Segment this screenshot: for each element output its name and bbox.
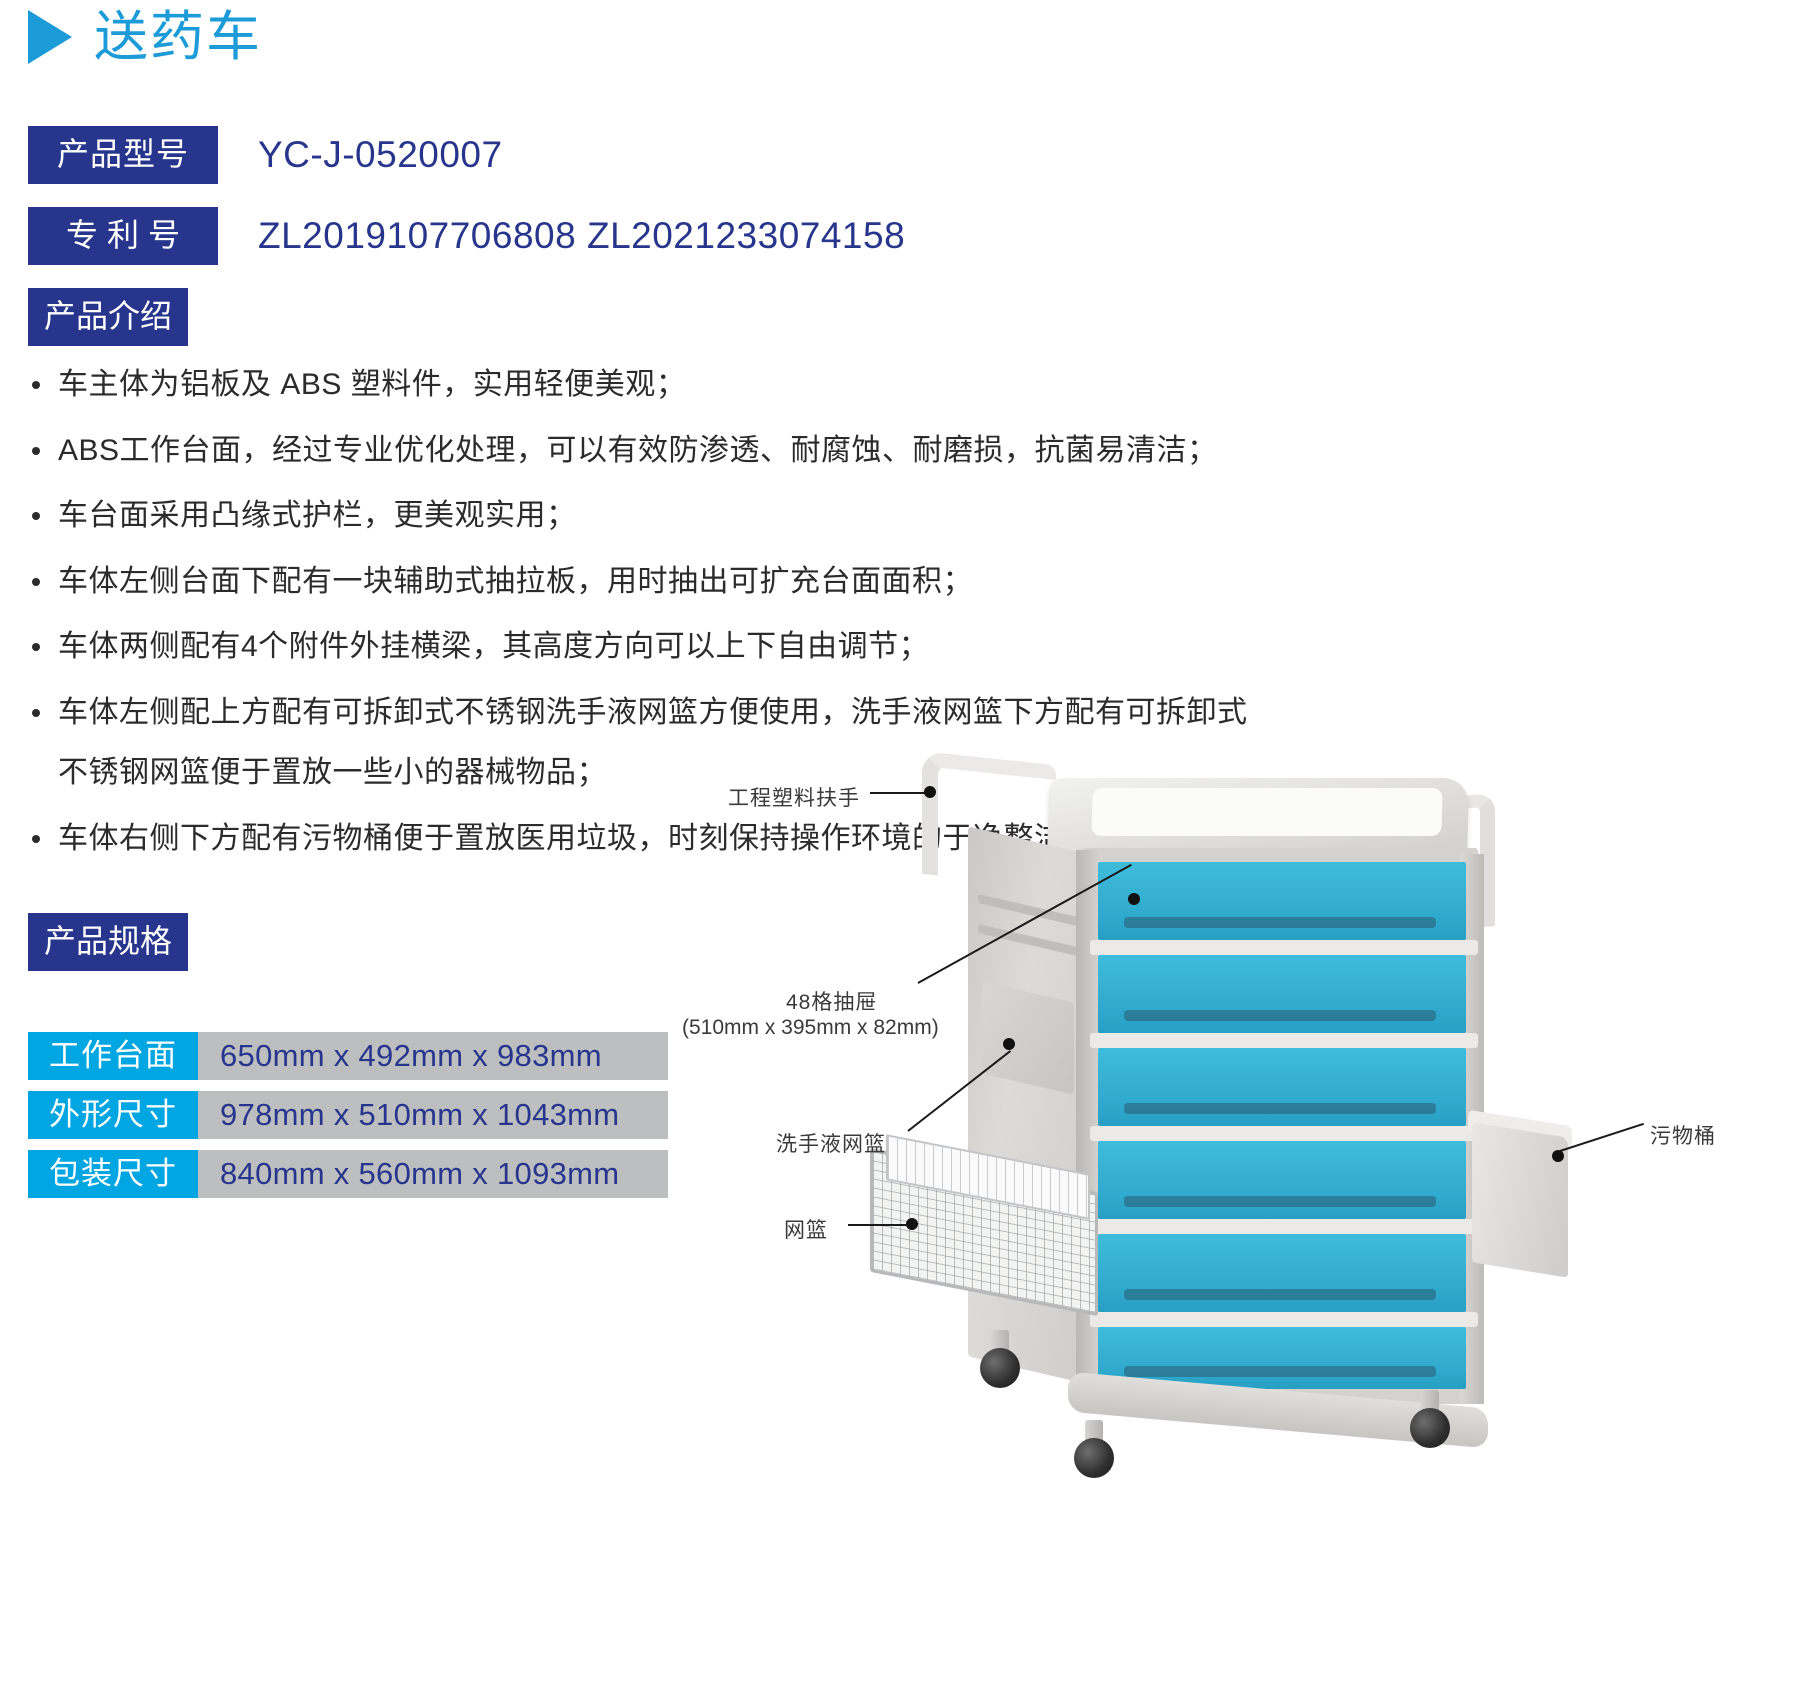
- callout-dot-icon: [1003, 1038, 1015, 1050]
- spec-key: 工作台面: [28, 1032, 198, 1080]
- cart-drawer-divider: [1090, 940, 1478, 955]
- section-header-specs: 产品规格: [28, 913, 188, 971]
- callout-leader-line: [870, 792, 928, 794]
- spec-value: 840mm x 560mm x 1093mm: [198, 1150, 619, 1198]
- cart-drawer-divider: [1090, 1126, 1478, 1141]
- callout-dot-icon: [1552, 1150, 1564, 1162]
- list-item: 车体左侧台面下配有一块辅助式抽拉板，用时抽出可扩充台面面积；: [20, 562, 1440, 603]
- callout-label-handle: 工程塑料扶手: [728, 782, 860, 812]
- spec-key: 包装尺寸: [28, 1150, 198, 1198]
- page-title-text: 送药车: [94, 10, 262, 64]
- section-header-intro: 产品介绍: [28, 288, 188, 346]
- cart-drawer: [1098, 862, 1466, 940]
- bullet-dot-icon: [32, 835, 40, 843]
- cart-drawer-divider: [1090, 1033, 1478, 1048]
- cart-caster: [1072, 1420, 1116, 1476]
- patent-number-row: 专利号 ZL2019107706808 ZL2021233074158: [28, 207, 905, 265]
- waste-bin: [1472, 1122, 1568, 1277]
- list-item: 车体两侧配有4个附件外挂横梁，其高度方向可以上下自由调节；: [20, 627, 1440, 668]
- table-row: 外形尺寸 978mm x 510mm x 1043mm: [28, 1091, 668, 1139]
- cart-drawer: [1098, 1234, 1466, 1312]
- product-spec-page: 送药车 产品型号 YC-J-0520007 专利号 ZL201910770680…: [0, 0, 1798, 1700]
- list-item-text: 车体左侧台面下配有一块辅助式抽拉板，用时抽出可扩充台面面积；: [58, 565, 973, 598]
- specifications-table: 工作台面 650mm x 492mm x 983mm 外形尺寸 978mm x …: [28, 1032, 668, 1209]
- product-photo: 工程塑料扶手 48格抽屉 (510mm x 395mm x 82mm) 洗手液网…: [860, 730, 1798, 1700]
- cart-drawer: [1098, 1141, 1466, 1219]
- bullet-dot-icon: [32, 709, 40, 717]
- bullet-dot-icon: [32, 643, 40, 651]
- callout-label-wire-basket: 网篮: [784, 1214, 828, 1244]
- bullet-dot-icon: [32, 447, 40, 455]
- callout-dot-icon: [1128, 893, 1140, 905]
- table-row: 工作台面 650mm x 492mm x 983mm: [28, 1032, 668, 1080]
- caster-wheel: [980, 1348, 1020, 1388]
- list-item-text: 车体左侧配上方配有可拆卸式不锈钢洗手液网篮方便使用，洗手液网篮下方配有可拆卸式: [58, 696, 1248, 729]
- list-item: 车主体为铝板及 ABS 塑料件，实用轻便美观；: [20, 365, 1440, 406]
- cart-drawer: [1098, 955, 1466, 1033]
- cart-drawer: [1098, 1048, 1466, 1126]
- cart-drawer-divider: [1090, 1312, 1478, 1327]
- product-model-row: 产品型号 YC-J-0520007: [28, 126, 503, 184]
- callout-sub-drawer-dimensions: (510mm x 395mm x 82mm): [682, 1016, 939, 1040]
- list-item-text: 车台面采用凸缘式护栏，更美观实用；: [58, 499, 577, 532]
- callout-dot-icon: [924, 786, 936, 798]
- bullet-dot-icon: [32, 578, 40, 586]
- callout-leader-line: [848, 1224, 910, 1226]
- spec-key: 外形尺寸: [28, 1091, 198, 1139]
- cart-worktop-surface: [1091, 788, 1442, 836]
- play-triangle-icon: [28, 10, 72, 64]
- cart-caster: [978, 1330, 1022, 1386]
- cart-caster: [1408, 1390, 1452, 1446]
- callout-label-drawer: 48格抽屉: [786, 986, 877, 1016]
- callout-label-waste-bin: 污物桶: [1650, 1120, 1716, 1150]
- spec-value: 650mm x 492mm x 983mm: [198, 1032, 602, 1080]
- bullet-dot-icon: [32, 512, 40, 520]
- callout-leader-line: [1560, 1123, 1644, 1152]
- patent-number-label: 专利号: [28, 207, 218, 265]
- list-item-text: 车主体为铝板及 ABS 塑料件，实用轻便美观；: [58, 368, 686, 401]
- callout-dot-icon: [906, 1218, 918, 1230]
- caster-wheel: [1410, 1408, 1450, 1448]
- page-title: 送药车: [28, 10, 262, 64]
- patent-number-value: ZL2019107706808 ZL2021233074158: [258, 215, 905, 257]
- spec-value: 978mm x 510mm x 1043mm: [198, 1091, 619, 1139]
- table-row: 包装尺寸 840mm x 560mm x 1093mm: [28, 1150, 668, 1198]
- product-model-label: 产品型号: [28, 126, 218, 184]
- cart-drawer-divider: [1090, 1219, 1478, 1234]
- callout-label-sanitizer-basket: 洗手液网篮: [776, 1128, 886, 1158]
- caster-wheel: [1074, 1438, 1114, 1478]
- list-item: 车台面采用凸缘式护栏，更美观实用；: [20, 496, 1440, 537]
- product-model-value: YC-J-0520007: [258, 134, 503, 176]
- list-item: ABS工作台面，经过专业优化处理，可以有效防渗透、耐腐蚀、耐磨损，抗菌易清洁；: [20, 431, 1440, 472]
- bullet-dot-icon: [32, 381, 40, 389]
- list-item-text: ABS工作台面，经过专业优化处理，可以有效防渗透、耐腐蚀、耐磨损，抗菌易清洁；: [58, 434, 1218, 467]
- list-item-text: 车体两侧配有4个附件外挂横梁，其高度方向可以上下自由调节；: [58, 630, 929, 663]
